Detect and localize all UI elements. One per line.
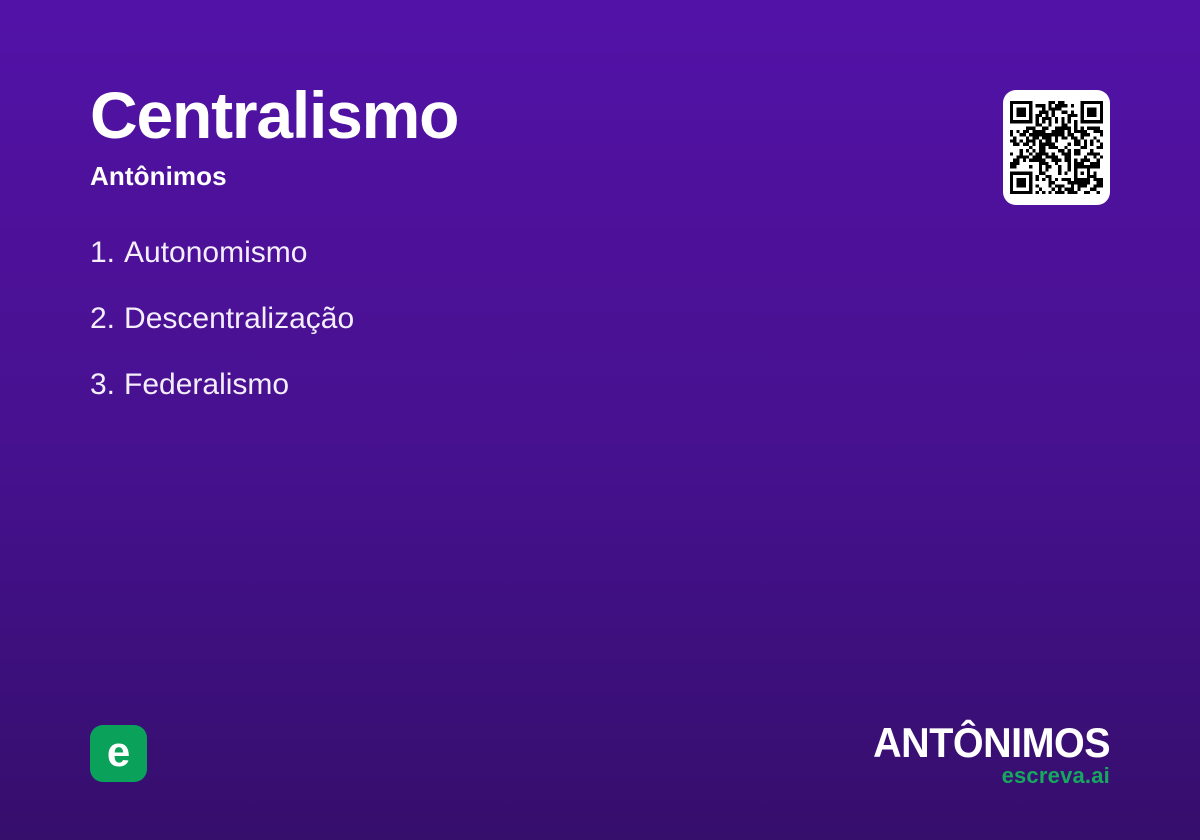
list-item-number: 3. <box>90 368 115 402</box>
list-item-number: 2. <box>90 302 115 336</box>
list-item: 3.Federalismo <box>90 368 950 434</box>
brand-tagline: escreva.ai <box>858 764 1110 788</box>
list-item-label: Descentralização <box>124 302 354 336</box>
brand-lockup: ANTÔNIMOS escreva.ai <box>858 723 1110 788</box>
list-item-label: Federalismo <box>124 368 289 402</box>
list-item: 1.Autonomismo <box>90 236 950 302</box>
list-item-number: 1. <box>90 236 115 270</box>
antonyms-card: Centralismo Antônimos 1.Autonomismo2.Des… <box>0 0 1200 840</box>
list-item: 2.Descentralização <box>90 302 950 368</box>
title-block: Centralismo Antônimos <box>90 82 950 191</box>
qr-code-card[interactable] <box>1003 90 1110 205</box>
escreva-e-logo-icon[interactable]: e <box>90 725 147 782</box>
app-badge-letter: e <box>107 731 130 773</box>
page-subtitle: Antônimos <box>90 162 950 191</box>
page-title: Centralismo <box>90 82 950 148</box>
antonyms-list: 1.Autonomismo2.Descentralização3.Federal… <box>90 236 950 434</box>
brand-name: ANTÔNIMOS <box>873 723 1110 763</box>
qr-code-icon <box>1010 101 1103 194</box>
list-item-label: Autonomismo <box>124 236 307 270</box>
